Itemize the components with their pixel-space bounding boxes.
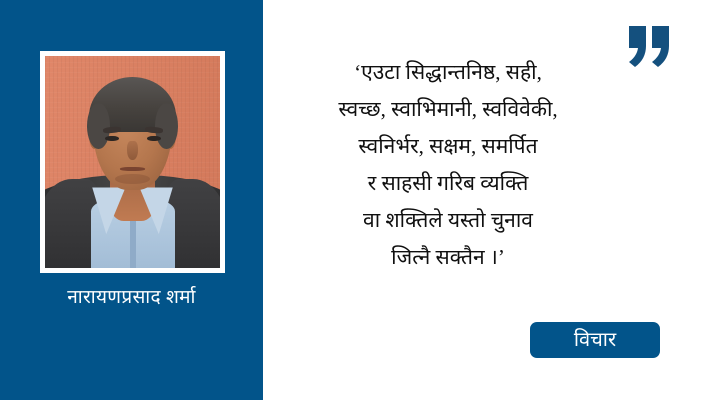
hair-side-left [87,103,110,150]
quote-line: र साहसी गरिब व्यक्ति [268,165,628,202]
quote-line: ‘एउटा सिद्धान्तनिष्ठ, सही, [268,54,628,91]
closing-quotation-mark-icon [627,26,675,68]
person-name: नारायणप्रसाद शर्मा [0,283,263,309]
hair-side-right [155,103,178,150]
shirt-placket [130,221,136,268]
nose-shape [127,141,138,160]
category-badge-label: विचार [574,330,616,350]
left-blue-panel: नारायणप्रसाद शर्मा [0,0,263,400]
quote-card: नारायणप्रसाद शर्मा ‘एउटा सिद्धान्तनिष्ठ,… [0,0,720,400]
portrait-frame [40,51,225,273]
quote-text: ‘एउटा सिद्धान्तनिष्ठ, सही, स्वच्छ, स्वाभ… [268,54,628,276]
eye-right [147,136,161,142]
quote-line: स्वनिर्भर, सक्षम, समर्पित [268,128,628,165]
eye-left [105,136,119,142]
portrait-photo [45,56,220,268]
quote-line: जित्नै सक्तैन ।’ [268,239,628,276]
quote-line: स्वच्छ, स्वाभिमानी, स्वविवेकी, [268,91,628,128]
quote-line: वा शक्तिले यस्तो चुनाव [268,202,628,239]
category-badge[interactable]: विचार [530,322,660,358]
